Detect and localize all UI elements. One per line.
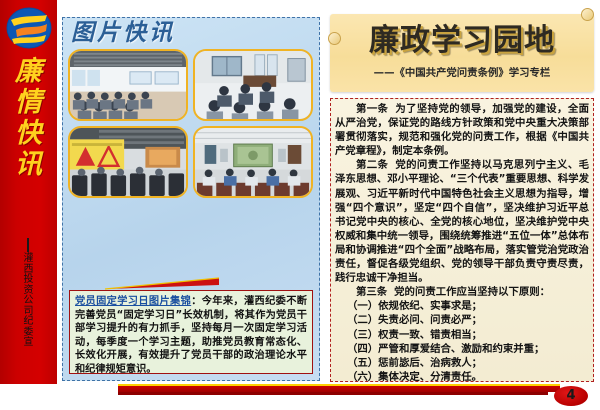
- photo-caption-box: 党员固定学习日图片集锦：今年来，灌西纪委不断完善党员“固定学习日”长效机制，将其…: [69, 290, 313, 374]
- sidebar-title-char-3: 讯: [0, 149, 57, 180]
- sidebar-vertical-subtitle: 灌 西 投 资 公 司 纪 委 宣: [0, 254, 57, 349]
- left-red-sidebar: 廉 情 快 讯 灌 西 投 资 公 司 纪 委 宣: [0, 0, 57, 384]
- regulation-text-body: 第一条为了坚持党的领导，加强党的建设，全面从严治党，保证党的路线方针政策和党中央…: [330, 98, 594, 382]
- article-number: 第二条: [356, 159, 388, 171]
- company-swoosh-logo-icon: [6, 6, 52, 50]
- photo-grid: [68, 49, 314, 198]
- sidebar-sub-char-4: 公: [0, 296, 57, 307]
- principle-item: （六）集体决定、分清责任。: [335, 370, 589, 384]
- study-column-panel: 廉政学习园地 ——《中国共产党问责条例》学习专栏 第一条为了坚持党的领导，加强党…: [330, 14, 594, 382]
- sidebar-title-char-0: 廉: [0, 56, 57, 87]
- article-number: 第三条: [356, 286, 387, 298]
- page-number-badge: 4: [554, 386, 588, 406]
- study-column-subtitle: ——《中国共产党问责条例》学习专栏: [330, 64, 594, 79]
- article-number: 第一条: [356, 103, 388, 115]
- scroll-roll-right-icon: [581, 8, 594, 21]
- sidebar-sub-char-6: 纪: [0, 317, 57, 328]
- article-paragraph: 第二条党的问责工作坚持以马克思列宁主义、毛泽东思想、邓小平理论、“三个代表”重要…: [335, 158, 589, 285]
- sidebar-dash-divider: [27, 238, 29, 252]
- article-paragraph: 第一条为了坚持党的领导，加强党的建设，全面从严治党，保证党的路线方针政策和党中央…: [335, 102, 589, 158]
- principle-item: （五）惩前毖后、治病救人；: [335, 356, 589, 370]
- sidebar-title-char-1: 情: [0, 87, 57, 118]
- sidebar-sub-char-0: 灌: [0, 254, 57, 265]
- photo-caption-text: 党员固定学习日图片集锦：今年来，灌西纪委不断完善党员“固定学习日”长效机制，将其…: [75, 295, 307, 377]
- principle-item: （四）严管和厚爱结合、激励和约束并重；: [335, 342, 589, 356]
- sidebar-sub-char-8: 宣: [0, 338, 57, 349]
- sidebar-sub-char-2: 投: [0, 275, 57, 286]
- sidebar-title-char-2: 快: [0, 118, 57, 149]
- scroll-roll-left-icon: [328, 32, 341, 45]
- article-text: 党的问责工作坚持以马克思列宁主义、毛泽东思想、邓小平理论、“三个代表”重要思想、…: [335, 159, 589, 284]
- photo-video-screening-auditorium[interactable]: [193, 126, 313, 198]
- sidebar-vertical-title: 廉 情 快 讯: [0, 56, 57, 180]
- principle-item: （二）失责必问、问责必严；: [335, 313, 589, 327]
- photo-caption-headline: 党员固定学习日图片集锦: [75, 296, 191, 307]
- photo-news-panel: 图片快讯: [62, 17, 320, 381]
- photo-lecture-hall-presentation[interactable]: [68, 126, 188, 198]
- photo-news-title: 图片快讯: [71, 20, 175, 46]
- photo-meeting-room-seated-audience[interactable]: [68, 49, 188, 121]
- study-column-banner: 廉政学习园地 ——《中国共产党问责条例》学习专栏: [330, 14, 594, 92]
- article-paragraph: 第三条党的问责工作应当坚持以下原则：: [335, 285, 589, 299]
- principle-item: （三）权责一致、错责相当；: [335, 328, 589, 342]
- principle-item: （一）依规依纪、实事求是；: [335, 299, 589, 313]
- photo-caption-body: 今年来，灌西纪委不断完善党员“固定学习日”长效机制，将其作为党员干部学习提升的有…: [75, 296, 307, 375]
- footer-decorative-bar: [118, 384, 560, 392]
- newsletter-page: 廉 情 快 讯 灌 西 投 资 公 司 纪 委 宣 图片快讯: [0, 0, 600, 410]
- study-column-title: 廉政学习园地: [346, 20, 578, 62]
- photo-caption-separator: ：: [191, 296, 202, 307]
- footer-decorative-bar-shadow: [118, 392, 548, 395]
- photo-discussion-small-group[interactable]: [193, 49, 313, 121]
- article-text: 党的问责工作应当坚持以下原则：: [394, 286, 550, 298]
